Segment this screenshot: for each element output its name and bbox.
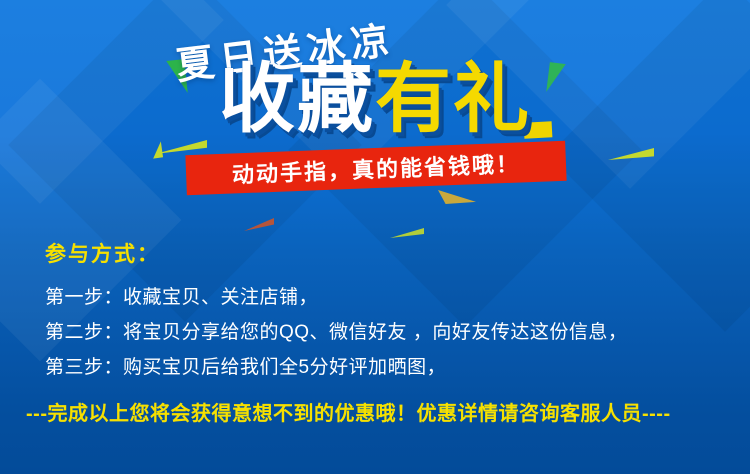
rust-sliver xyxy=(244,218,274,231)
headline: 收藏有礼 xyxy=(0,62,750,138)
lime-sliver-left xyxy=(151,141,163,158)
instructions-block: 参与方式： 第一步：收藏宝贝、关注店铺， 第二步：将宝贝分享给您的QQ、微信好友… xyxy=(45,238,730,387)
headline-white-part: 收藏 xyxy=(219,57,375,142)
lime-sliver-lower xyxy=(390,228,424,238)
promo-banner: 夏日送冰凉 收藏有礼 动动手指，真的能省钱哦！ 参与方式： 第一步：收藏宝贝、关… xyxy=(0,0,750,474)
lime-sliver-right xyxy=(608,148,654,160)
red-slogan-banner: 动动手指，真的能省钱哦！ xyxy=(185,141,566,196)
footer-note: ---完成以上您将会获得意想不到的优惠哦！优惠详情请咨询客服人员---- xyxy=(26,397,671,426)
section-title: 参与方式： xyxy=(45,238,730,268)
gold-sliver xyxy=(438,190,476,204)
lime-sliver-mid xyxy=(155,140,207,154)
red-banner-text: 动动手指，真的能省钱哦！ xyxy=(231,146,520,189)
headline-yellow-part: 有礼 xyxy=(375,57,531,142)
step-item-2: 第二步：将宝贝分享给您的QQ、微信好友 ，向好友传达这份信息， xyxy=(45,317,730,344)
step-item-3: 第三步：购买宝贝后给我们全5分好评加晒图， xyxy=(45,352,730,379)
step-item-1: 第一步：收藏宝贝、关注店铺， xyxy=(45,282,730,309)
